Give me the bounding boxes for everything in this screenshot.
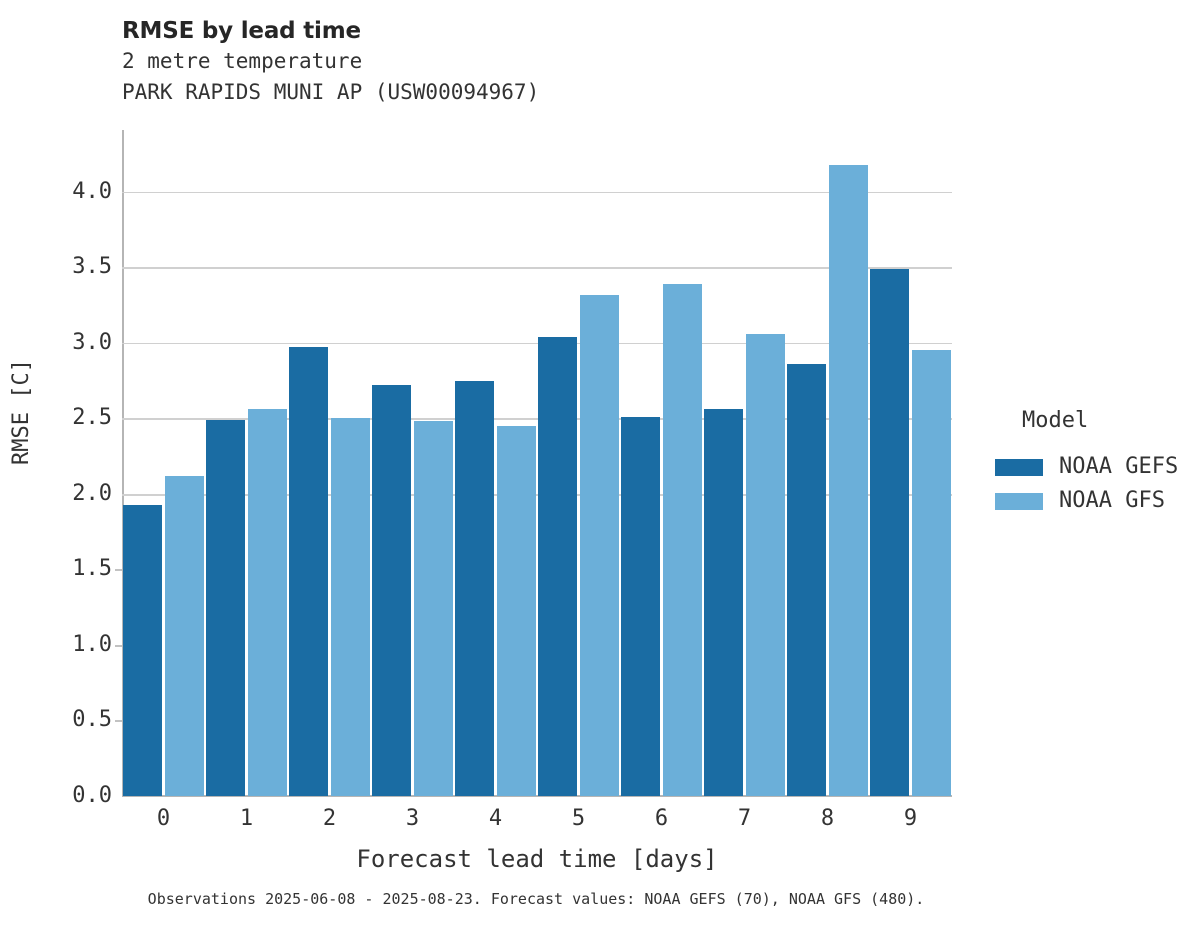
x-axis-tick-label: 8 bbox=[786, 806, 869, 832]
legend-item-label: NOAA GFS bbox=[1059, 489, 1165, 513]
bar-group bbox=[703, 139, 786, 796]
x-axis-title: Forecast lead time [days] bbox=[122, 845, 952, 873]
bar-group bbox=[288, 139, 371, 796]
bar bbox=[621, 417, 660, 796]
x-axis-tick-label: 1 bbox=[205, 806, 288, 832]
bar-group bbox=[537, 139, 620, 796]
bar bbox=[372, 385, 411, 796]
y-axis-tick-label: 1.5 bbox=[72, 558, 112, 580]
x-axis-tick-label: 3 bbox=[371, 806, 454, 832]
bar bbox=[248, 409, 287, 796]
bar bbox=[289, 347, 328, 796]
y-axis-tick-label: 4.0 bbox=[72, 181, 112, 203]
x-axis-tick-label: 6 bbox=[620, 806, 703, 832]
y-axis-tick-mark bbox=[115, 569, 122, 571]
y-axis-tick-mark bbox=[115, 720, 122, 722]
bar bbox=[829, 165, 868, 796]
bar-group bbox=[371, 139, 454, 796]
y-axis-tick-label: 0.0 bbox=[72, 785, 112, 807]
chart-title: RMSE by lead time bbox=[122, 16, 982, 46]
legend-item[interactable]: NOAA GEFS bbox=[995, 450, 1185, 484]
bar bbox=[538, 337, 577, 796]
chart-subtitle-line-2: PARK RAPIDS MUNI AP (USW00094967) bbox=[122, 77, 982, 108]
y-axis-tick-label: 1.0 bbox=[72, 634, 112, 656]
bar bbox=[455, 381, 494, 796]
x-axis-tick-label: 2 bbox=[288, 806, 371, 832]
figure-caption: Observations 2025-06-08 - 2025-08-23. Fo… bbox=[0, 890, 1072, 908]
x-axis-tick-label: 0 bbox=[122, 806, 205, 832]
bar bbox=[123, 505, 162, 796]
bar bbox=[497, 426, 536, 796]
bar-group bbox=[122, 139, 205, 796]
bar bbox=[787, 364, 826, 796]
bar-group bbox=[786, 139, 869, 796]
bar bbox=[746, 334, 785, 796]
legend-entries: NOAA GEFSNOAA GFS bbox=[995, 450, 1185, 518]
bar bbox=[206, 420, 245, 796]
legend: Model NOAA GEFSNOAA GFS bbox=[995, 408, 1185, 518]
y-axis-tick-mark bbox=[115, 645, 122, 647]
bar bbox=[580, 295, 619, 796]
legend-item[interactable]: NOAA GFS bbox=[995, 484, 1185, 518]
chart-subtitle-line-1: 2 metre temperature bbox=[122, 46, 982, 77]
legend-item-label: NOAA GEFS bbox=[1059, 455, 1178, 479]
y-axis-title: RMSE [C] bbox=[10, 312, 34, 512]
legend-title: Model bbox=[1022, 408, 1185, 434]
legend-swatch-icon bbox=[995, 493, 1043, 510]
x-axis-tick-label: 7 bbox=[703, 806, 786, 832]
bar bbox=[704, 409, 743, 796]
bar-group bbox=[454, 139, 537, 796]
bars-layer bbox=[122, 139, 952, 796]
y-axis-tick-label: 2.0 bbox=[72, 483, 112, 505]
bar-group bbox=[869, 139, 952, 796]
y-axis-tick-label: 0.5 bbox=[72, 709, 112, 731]
bar bbox=[165, 476, 204, 796]
bar bbox=[331, 418, 370, 796]
y-axis-tick-label: 2.5 bbox=[72, 407, 112, 429]
bar bbox=[870, 269, 909, 796]
x-axis-tick-label: 9 bbox=[869, 806, 952, 832]
x-axis-tick-label: 5 bbox=[537, 806, 620, 832]
y-axis-tick-label: 3.5 bbox=[72, 256, 112, 278]
chart-figure: RMSE by lead time 2 metre temperature PA… bbox=[0, 0, 1188, 928]
y-axis-tick-labels: 0.00.51.01.52.02.53.03.54.0 bbox=[40, 139, 112, 796]
bar-group bbox=[620, 139, 703, 796]
title-block: RMSE by lead time 2 metre temperature PA… bbox=[122, 16, 982, 108]
bar bbox=[663, 284, 702, 796]
bar bbox=[414, 421, 453, 796]
x-axis-tick-labels: 0123456789 bbox=[122, 806, 952, 840]
legend-swatch-icon bbox=[995, 459, 1043, 476]
plot-area bbox=[122, 139, 952, 796]
x-axis-tick-label: 4 bbox=[454, 806, 537, 832]
bar-group bbox=[205, 139, 288, 796]
y-axis-tick-label: 3.0 bbox=[72, 332, 112, 354]
bar bbox=[912, 350, 951, 796]
